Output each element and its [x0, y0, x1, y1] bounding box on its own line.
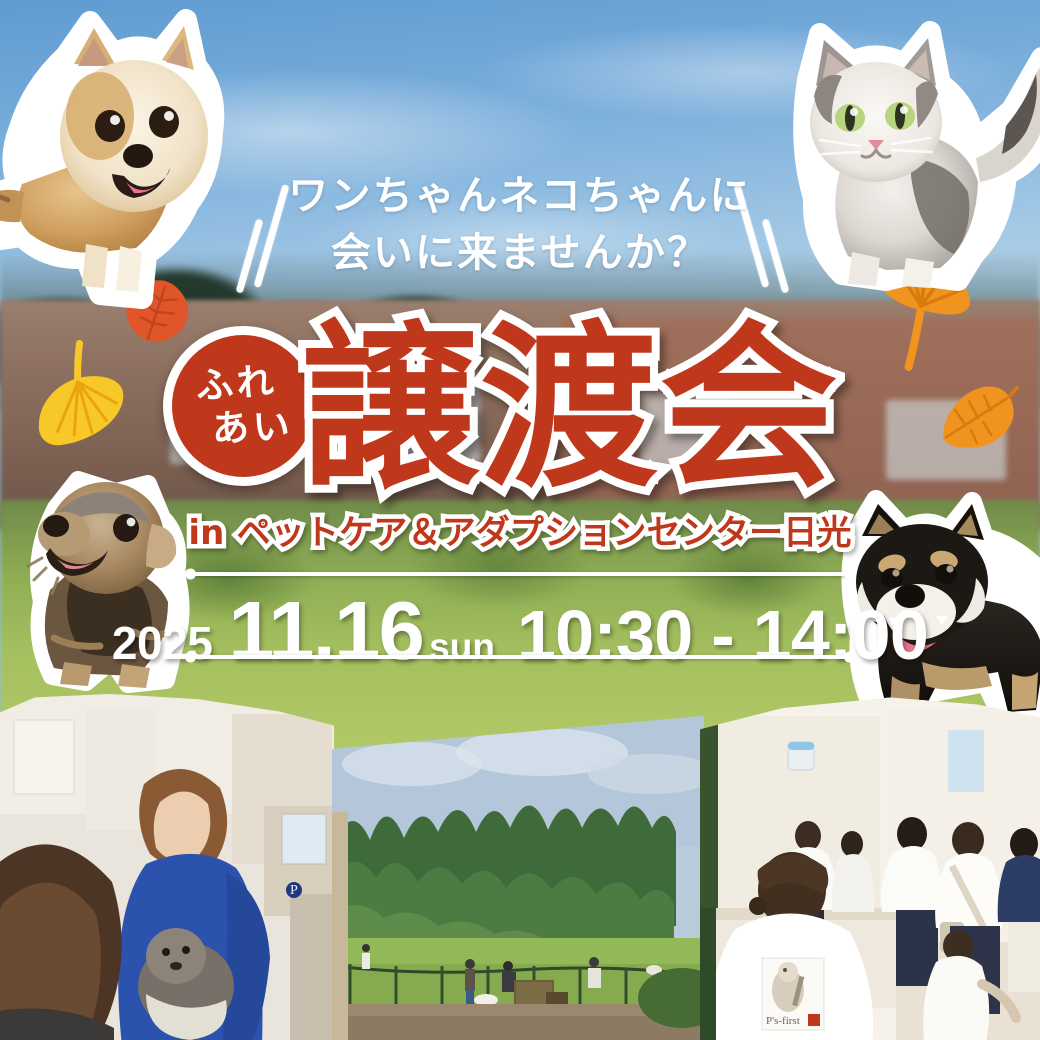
event-time: 10:30 - 14:00: [517, 595, 928, 675]
fureai-badge: ふれ あい: [163, 326, 323, 486]
dog-park-photo: [332, 716, 704, 1040]
event-date: 11.16: [228, 583, 423, 679]
adoption-event-photo: P's-first: [700, 694, 1040, 1040]
title-block: ふれ あい 譲渡会: [0, 312, 1040, 512]
poster-root: ワンちゃんネコちゃんに 会いに来ませんか？: [0, 0, 1040, 1040]
date-time-line: 2025 11.16 sun 10:30 - 14:00: [0, 583, 1040, 679]
date-rule-top: [190, 572, 850, 576]
page-title-text: 譲渡会: [300, 305, 839, 512]
cat-cutout: [790, 18, 1040, 298]
badge-line-1: ふれ: [195, 360, 279, 409]
clinic-photo: P: [0, 694, 334, 1040]
badge-line-2: あい: [212, 405, 295, 451]
svg-text:P: P: [290, 883, 298, 898]
svg-text:P's-first: P's-first: [766, 1015, 800, 1027]
photo-band: P: [0, 700, 1040, 1040]
chihuahua-cutout: [0, 8, 264, 308]
venue-label: in ペットケア＆アダプションセンター日光: [0, 505, 1040, 554]
page-title: 譲渡会: [300, 304, 950, 514]
date-rule-bottom: [190, 655, 850, 659]
event-weekday: sun: [429, 626, 495, 668]
event-year: 2025: [112, 616, 213, 670]
